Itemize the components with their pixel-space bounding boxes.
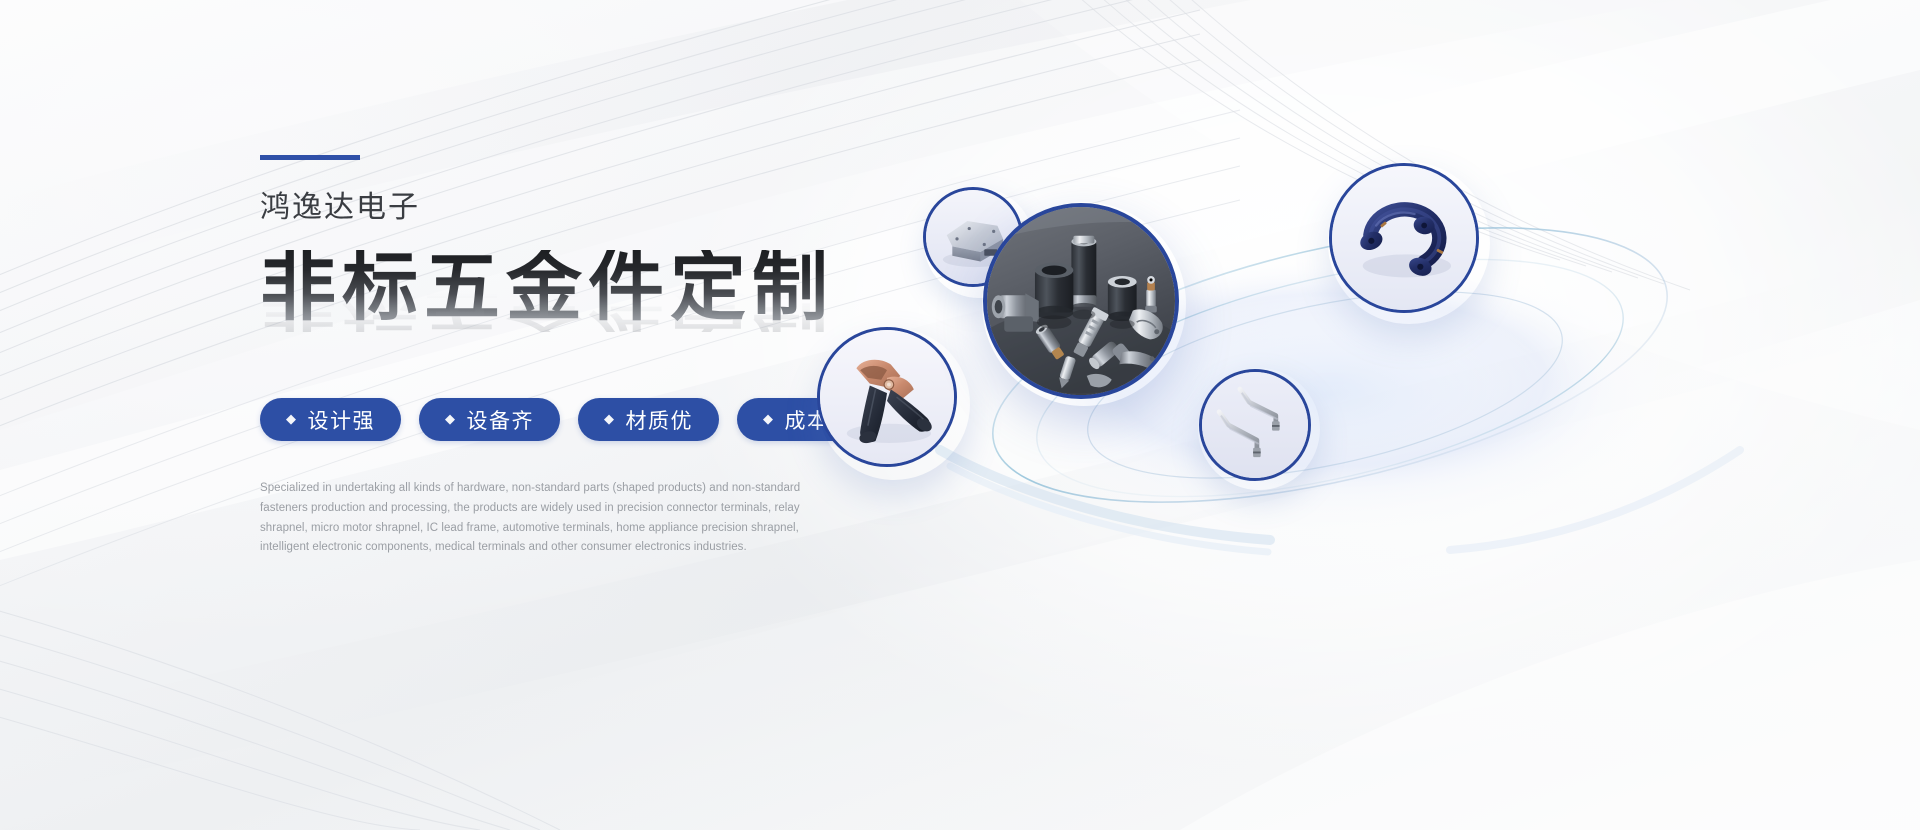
precision-hardware-parts-photo <box>987 207 1175 395</box>
retaining-clip-ring-photo <box>1332 166 1476 310</box>
feature-tag-equipment[interactable]: ◆ 设备齐 <box>419 398 560 441</box>
accent-bar <box>260 155 360 160</box>
product-circle-precision-hardware-parts[interactable] <box>983 203 1179 399</box>
product-circle-copper-battery-clamp[interactable] <box>817 327 957 467</box>
feature-tag-material[interactable]: ◆ 材质优 <box>578 398 719 441</box>
product-circle-retaining-clip-ring[interactable] <box>1329 163 1479 313</box>
feature-tag-label: 材质优 <box>626 405 694 435</box>
headline-reflection: 非标五金件定制 <box>260 288 834 332</box>
copper-battery-clamp-photo <box>820 330 954 464</box>
diamond-icon: ◆ <box>763 412 775 425</box>
bent-metal-terminals-photo <box>1202 372 1308 478</box>
brand-name: 鸿逸达电子 <box>260 193 980 223</box>
diamond-icon: ◆ <box>286 412 298 425</box>
diamond-icon: ◆ <box>445 412 457 425</box>
feature-tag-design[interactable]: ◆ 设计强 <box>260 398 401 441</box>
hero-banner: 鸿逸达电子 非标五金件定制 非标五金件定制 ◆ 设计强 ◆ 设备齐 ◆ 材质优 … <box>0 0 1920 830</box>
feature-tag-label: 设备齐 <box>467 405 535 435</box>
diamond-icon: ◆ <box>604 412 616 425</box>
description-paragraph: Specialized in undertaking all kinds of … <box>260 479 822 558</box>
feature-tag-label: 设计强 <box>308 405 376 435</box>
product-circle-bent-metal-terminals[interactable] <box>1199 369 1311 481</box>
product-visual-group <box>930 150 1770 570</box>
